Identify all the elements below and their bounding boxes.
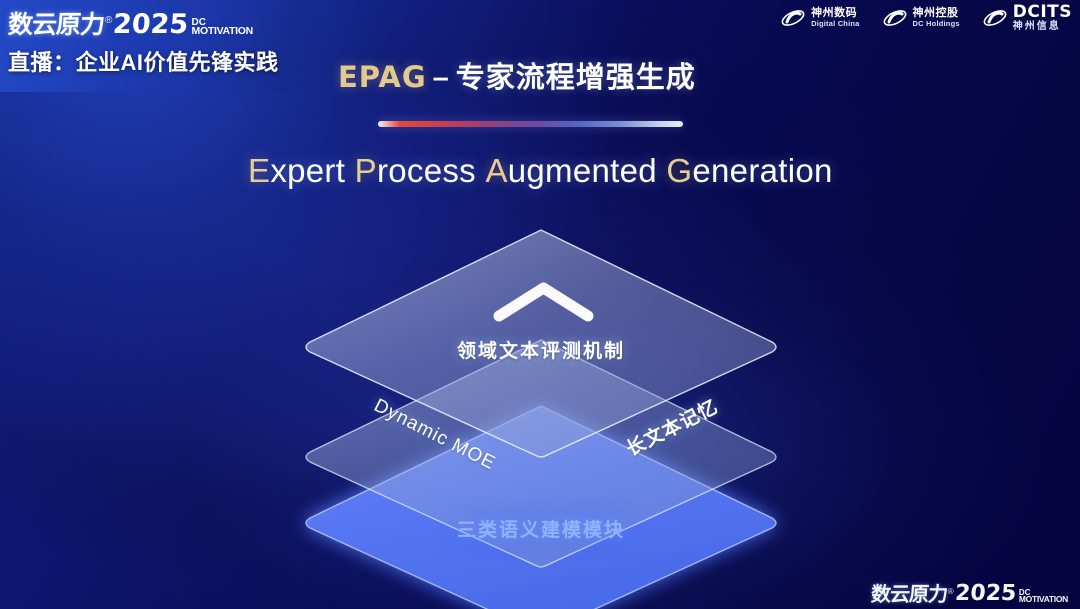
partner-name-en: DCITS bbox=[1013, 4, 1072, 22]
swirl-logo-icon bbox=[882, 7, 908, 29]
headline-dash: – bbox=[427, 62, 456, 94]
diagram-layer-top bbox=[296, 224, 786, 456]
partner-logo-group: 神州数码 Digital China 神州控股 DC Holdings DCIT… bbox=[780, 4, 1072, 32]
partner-label: DCITS 神州信息 bbox=[1013, 4, 1072, 32]
partner-name-en: DC Holdings bbox=[913, 20, 960, 28]
acronym-letter-g: G bbox=[666, 152, 692, 189]
slide-canvas: 数云原力 ® 2025 DC MOTIVATION 直播：企业AI价值先锋实践 … bbox=[0, 0, 1080, 609]
partner-logo-digital-china: 神州数码 Digital China bbox=[780, 7, 859, 29]
word-rest-process: rocess bbox=[377, 152, 476, 189]
partner-logo-dcits: DCITS 神州信息 bbox=[982, 4, 1072, 32]
gradient-divider bbox=[378, 121, 683, 127]
brand-year: 2025 bbox=[112, 11, 189, 38]
partner-label: 神州控股 DC Holdings bbox=[913, 8, 960, 27]
acronym-letter-a: A bbox=[485, 152, 507, 189]
chevron-up-icon bbox=[491, 280, 596, 322]
watermark-year: 2025 bbox=[954, 583, 1017, 605]
page-title: EPAG–专家流程增强生成 bbox=[338, 54, 696, 96]
partner-name-en: Digital China bbox=[811, 20, 859, 28]
headline-subject: 专家流程增强生成 bbox=[456, 62, 696, 94]
partner-logo-dc-holdings: 神州控股 DC Holdings bbox=[882, 7, 960, 29]
partner-name-cn: 神州信息 bbox=[1013, 22, 1072, 33]
watermark-motivation-text: MOTIVATION bbox=[1019, 596, 1068, 604]
word-rest-augmented: ugmented bbox=[508, 152, 657, 189]
live-stream-title: 直播：企业AI价值先锋实践 bbox=[8, 45, 320, 77]
brand-logo: 数云原力 ® 2025 DC MOTIVATION bbox=[8, 4, 320, 38]
acronym-letter-e: E bbox=[248, 152, 270, 189]
word-rest-generation: eneration bbox=[692, 152, 832, 189]
swirl-logo-icon bbox=[982, 7, 1008, 29]
partner-label: 神州数码 Digital China bbox=[811, 8, 859, 27]
watermark-dc-motivation: DC MOTIVATION bbox=[1019, 589, 1068, 605]
top-layer-shape bbox=[296, 224, 786, 456]
watermark-registered-mark: ® bbox=[948, 588, 954, 596]
brand-header-block: 数云原力 ® 2025 DC MOTIVATION 直播：企业AI价值先锋实践 bbox=[0, 0, 320, 92]
swirl-logo-icon bbox=[780, 7, 806, 29]
brand-dc-motivation: DC MOTIVATION bbox=[192, 18, 253, 38]
watermark-name-cn: 数云原力 bbox=[870, 585, 947, 605]
word-rest-expert: xpert bbox=[270, 152, 345, 189]
acronym-letter-p: P bbox=[355, 152, 377, 189]
headline-acronym: EPAG bbox=[338, 60, 427, 94]
english-subtitle: Expert Process Augmented Generation bbox=[248, 152, 833, 190]
corner-watermark-logo: 数云原力 ® 2025 DC MOTIVATION bbox=[871, 571, 1068, 605]
registered-mark: ® bbox=[105, 16, 112, 26]
layered-architecture-diagram: 领域文本评测机制 Dynamic MOE 长文本记忆 三类语义建模模块 bbox=[296, 224, 786, 584]
brand-name-cn: 数云原力 bbox=[7, 13, 105, 38]
brand-motivation-text: MOTIVATION bbox=[192, 27, 253, 37]
